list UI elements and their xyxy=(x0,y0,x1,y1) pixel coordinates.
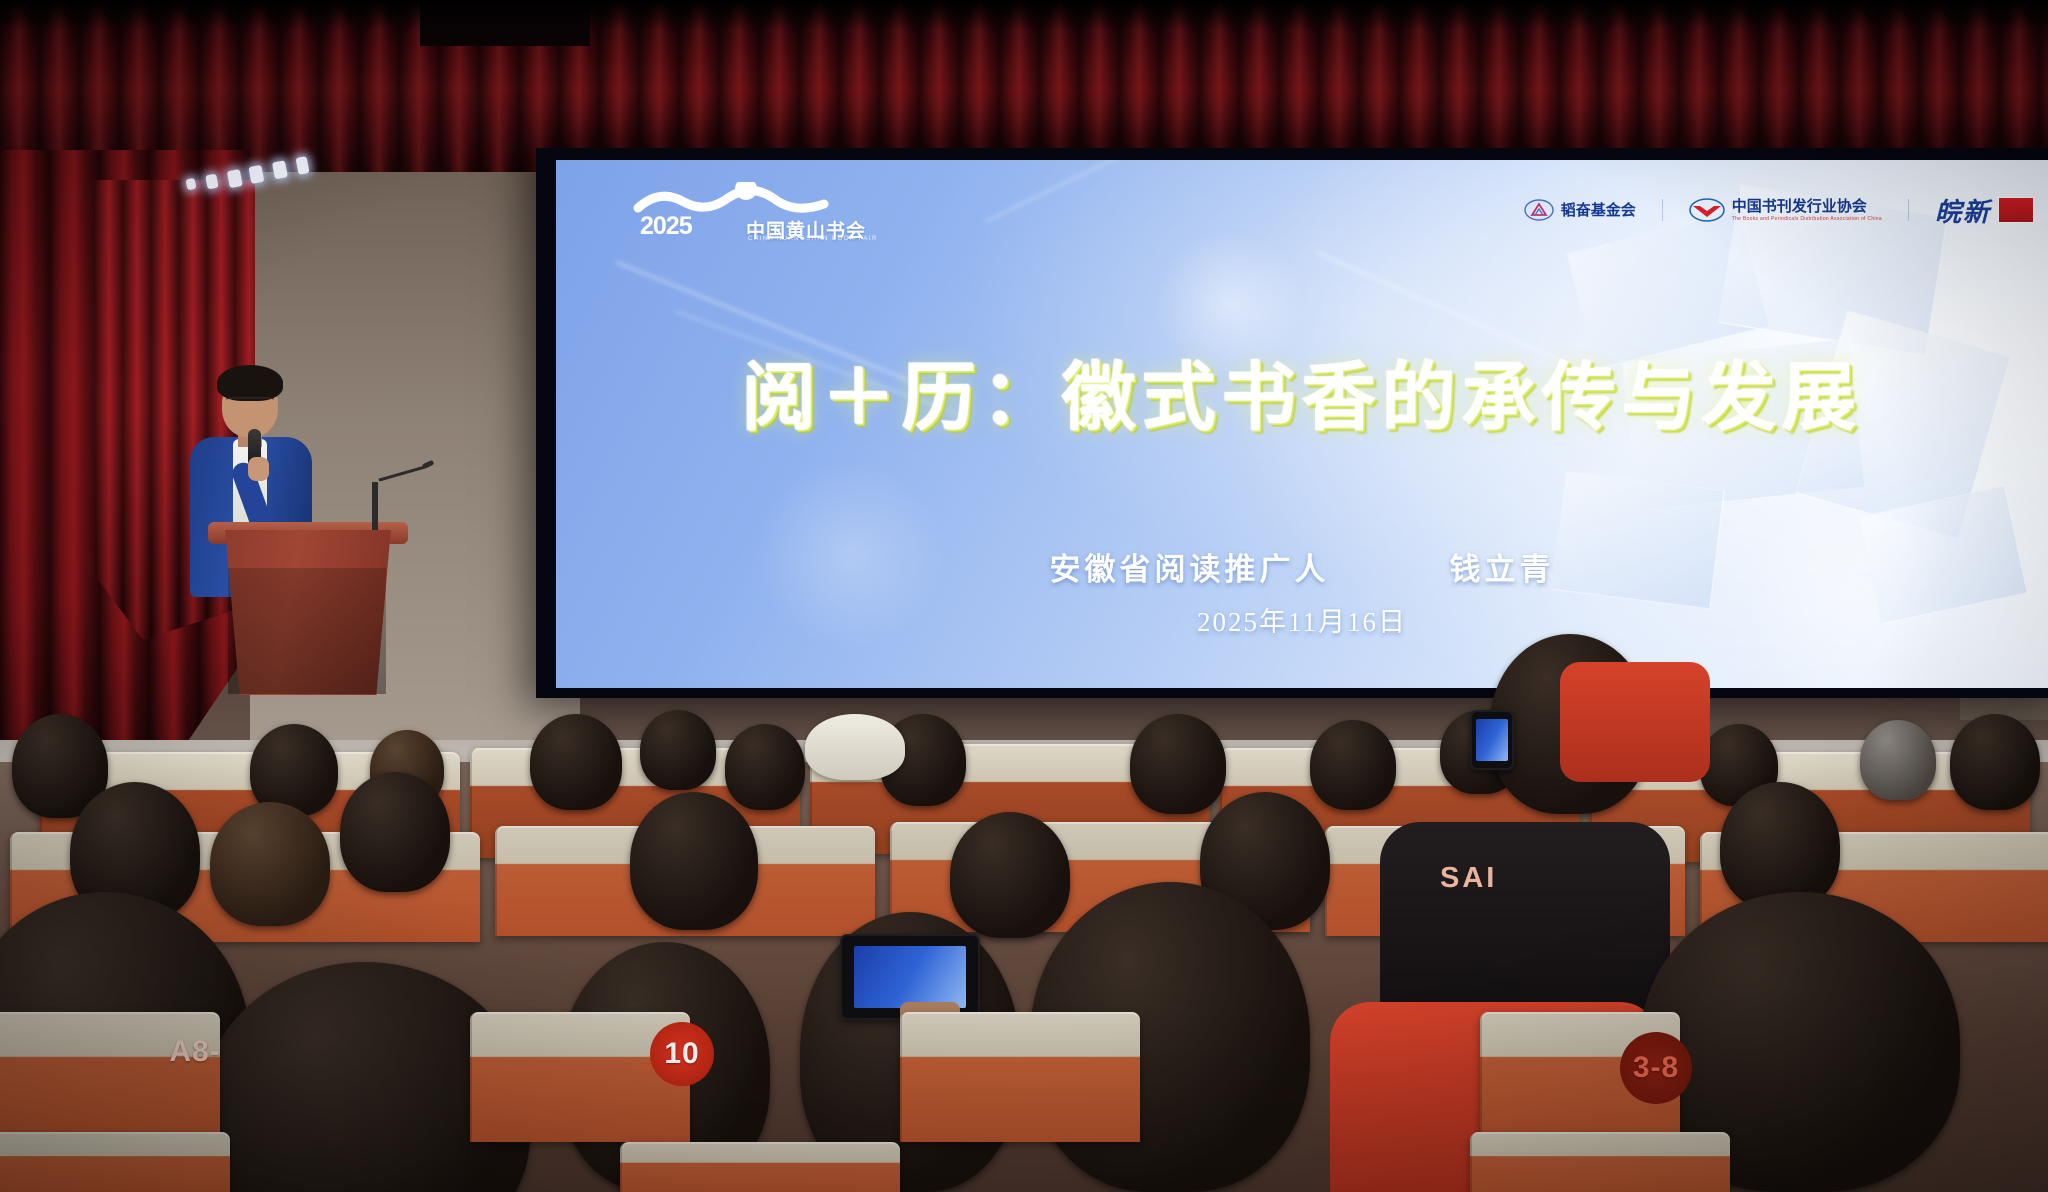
audience-head xyxy=(340,772,450,892)
seat-row-front[interactable] xyxy=(620,1142,900,1192)
slide-date: 2025年11月16日 xyxy=(1197,600,1407,639)
seat-badge: A8- xyxy=(150,1027,240,1077)
audience-head xyxy=(630,792,758,930)
audience-head xyxy=(725,724,805,810)
audience-head xyxy=(1950,714,2040,810)
bpdac-icon xyxy=(1689,198,1725,222)
seat-badge: 3-8 xyxy=(1620,1032,1692,1104)
audience-head xyxy=(530,714,622,810)
event-logo: 2025 中国黄山书会 CHINA HUANGSHAN BOOK FAIR xyxy=(628,182,878,244)
event-logo-name-en: CHINA HUANGSHAN BOOK FAIR xyxy=(748,236,878,242)
event-logo-year: 2025 xyxy=(640,212,692,241)
auditorium-scene: 2025 中国黄山书会 CHINA HUANGSHAN BOOK FAIR 韬奋… xyxy=(0,0,2048,1192)
ceiling-shadow xyxy=(0,0,2048,30)
audience-phone-recording[interactable] xyxy=(1470,710,1514,770)
sponsor-badge-icon xyxy=(1998,197,2034,223)
stage-light-icon xyxy=(205,174,218,190)
audience-cap xyxy=(805,714,905,780)
audience-head xyxy=(1720,782,1840,910)
audience-head xyxy=(210,802,330,926)
phone-screen xyxy=(854,946,966,1008)
sponsor-item: 中国书刊发行业协会 The Books and Periodicals Dist… xyxy=(1689,198,1882,222)
sponsor-divider xyxy=(1662,199,1663,221)
microphone-stand xyxy=(372,462,432,532)
slide-subtitle: 安徽省阅读推广人 钱立青 xyxy=(1050,544,1555,589)
projection-screen[interactable]: 2025 中国黄山书会 CHINA HUANGSHAN BOOK FAIR 韬奋… xyxy=(556,160,2048,688)
sponsor-name: 中国书刊发行业协会 xyxy=(1732,199,1882,214)
seat-row-front[interactable] xyxy=(1470,1132,1730,1192)
audience-head xyxy=(1130,714,1226,814)
seat-row-front[interactable] xyxy=(900,1012,1140,1142)
glasses-icon xyxy=(226,397,274,406)
phone-screen xyxy=(1476,719,1509,762)
stage-light-icon xyxy=(248,165,264,184)
sponsor-item: 韬奋基金会 xyxy=(1524,199,1636,221)
audience-jacket xyxy=(1560,662,1710,782)
stage-light-icon xyxy=(186,178,197,191)
slide-title: 阅＋历：徽式书香的承传与发展 xyxy=(742,338,1862,445)
audience-head xyxy=(950,812,1070,938)
seat-badge: 10 xyxy=(650,1022,714,1086)
audience-head xyxy=(1310,720,1396,810)
seat-row-front[interactable] xyxy=(0,1132,230,1192)
presenter-hair xyxy=(217,365,283,401)
sponsor-label: 中国书刊发行业协会 The Books and Periodicals Dist… xyxy=(1732,199,1882,222)
audience-head xyxy=(640,710,716,790)
taofen-foundation-icon xyxy=(1524,199,1554,221)
sponsor-name-en: The Books and Periodicals Distribution A… xyxy=(1732,217,1882,222)
seat-row-front[interactable] xyxy=(470,1012,690,1142)
sponsor-divider xyxy=(1908,199,1909,221)
presenter-hand xyxy=(248,457,269,481)
slide-subtitle-name: 钱立青 xyxy=(1450,544,1555,589)
sponsor-bar: 韬奋基金会 中国书刊发行业协会 The Books and Periodical… xyxy=(1524,188,2034,232)
collage-tile xyxy=(1551,471,1724,610)
podium-shading xyxy=(228,568,386,694)
mic-pole xyxy=(372,482,378,530)
sponsor-label: 韬奋基金会 xyxy=(1561,203,1636,218)
sponsor-name: 皖新 xyxy=(1935,192,1991,229)
stage-light-icon xyxy=(272,160,288,179)
sponsor-name: 韬奋基金会 xyxy=(1561,203,1636,218)
audience-area: SAI A8- 10 3-8 xyxy=(0,762,2048,1192)
stage-light-icon xyxy=(227,169,243,188)
mic-gooseneck xyxy=(379,465,426,481)
sponsor-item: 皖新 xyxy=(1935,192,2034,229)
slide-subtitle-role: 安徽省阅读推广人 xyxy=(1050,544,1330,589)
light-streak xyxy=(985,160,1220,223)
stage-light-icon xyxy=(296,156,310,175)
audience-head xyxy=(1860,720,1936,800)
lens-glow xyxy=(756,460,946,650)
jacket-text: SAI xyxy=(1440,862,1497,895)
